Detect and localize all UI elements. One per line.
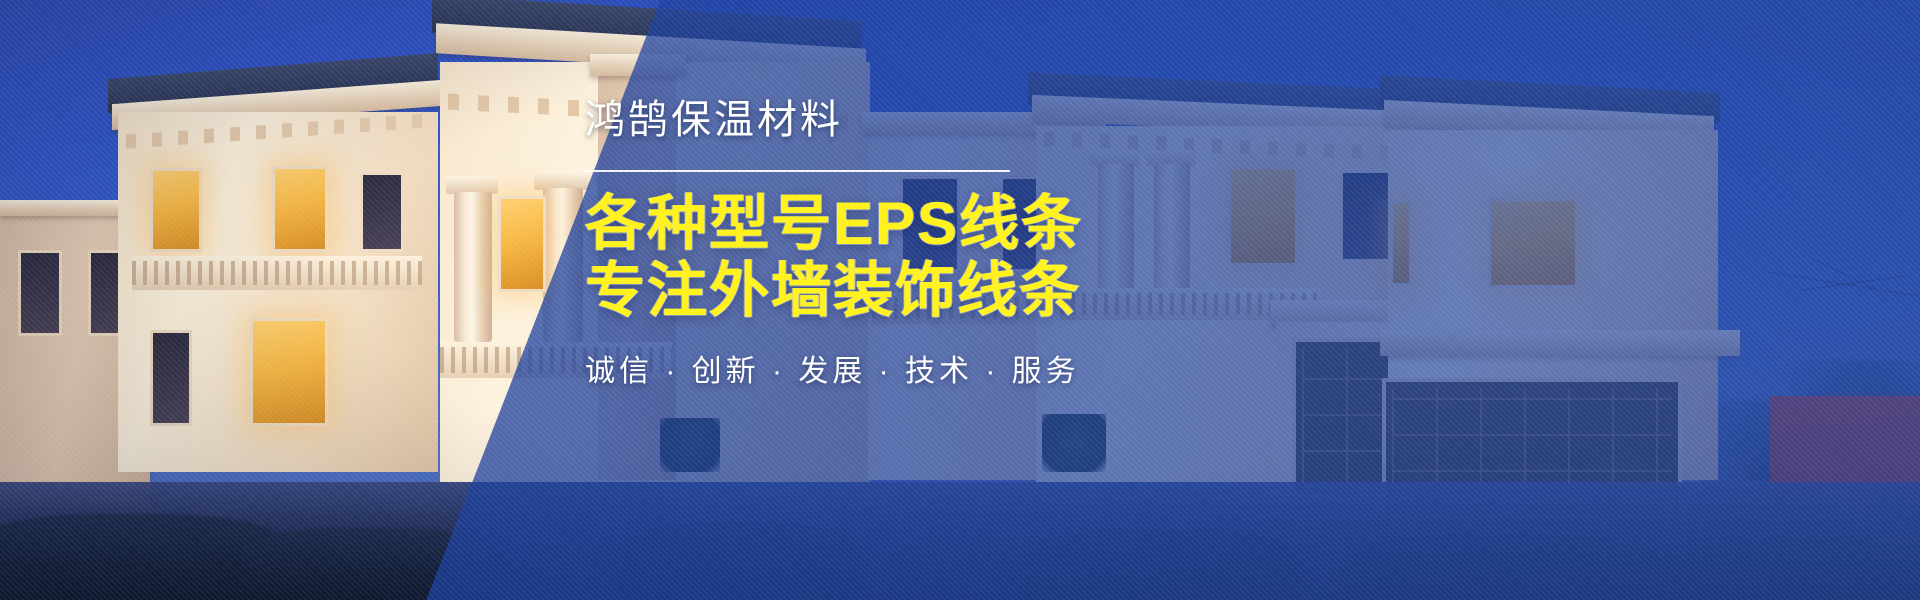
headline-line-1: 各种型号EPS线条 xyxy=(585,190,1083,257)
hedge-right xyxy=(1340,534,1660,600)
window-far-right-lit xyxy=(1488,198,1578,288)
hedge-left xyxy=(0,514,280,600)
window-left-lower-1 xyxy=(250,318,328,426)
planter-shrub-left xyxy=(660,418,720,472)
headline: 各种型号EPS线条 专注外墙装饰线条 xyxy=(585,190,1345,324)
planter-shrub-right xyxy=(1042,414,1106,472)
window-left-upper-3 xyxy=(360,172,404,252)
hedge-center xyxy=(620,522,860,600)
window-far-left-1 xyxy=(18,250,62,336)
window-left-upper-1 xyxy=(150,168,202,252)
column-2 xyxy=(543,188,583,342)
hedge-center-right xyxy=(1020,530,1300,600)
tagline: 诚信 · 创新 · 发展 · 技术 · 服务 xyxy=(585,354,1345,390)
window-center-lit xyxy=(498,196,546,292)
cornice-far-right-mid xyxy=(1380,330,1740,356)
hedge-center-left xyxy=(240,528,500,600)
hero-banner: 鸿鹄保温材料 各种型号EPS线条 专注外墙装饰线条 诚信 · 创新 · 发展 ·… xyxy=(0,0,1920,600)
headline-line-2: 专注外墙装饰线条 xyxy=(585,257,1345,324)
window-far-right-lit-2 xyxy=(1390,200,1412,286)
banner-copy: 鸿鹄保温材料 各种型号EPS线条 专注外墙装饰线条 诚信 · 创新 · 发展 ·… xyxy=(585,96,1345,390)
balustrade-left xyxy=(132,256,422,290)
column-1 xyxy=(454,192,492,342)
portico-pilaster-cap xyxy=(590,54,686,76)
hedge-far-right xyxy=(1660,540,1920,600)
window-right-upper-dark xyxy=(1340,170,1392,262)
window-left-lower-2 xyxy=(150,330,192,426)
divider-rule xyxy=(585,170,1010,172)
brand-name: 鸿鹄保温材料 xyxy=(585,96,1345,144)
window-left-upper-2 xyxy=(272,166,328,252)
